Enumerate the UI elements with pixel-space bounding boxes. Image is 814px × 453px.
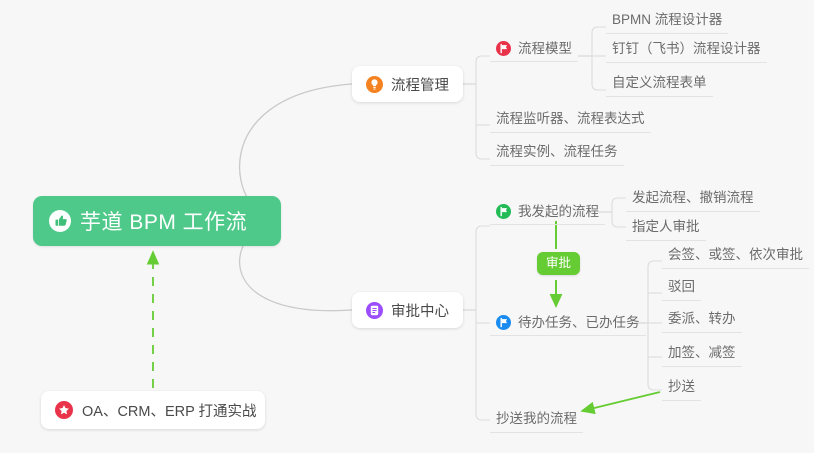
leaf-custom-process-form[interactable]: 自定义流程表单	[606, 74, 713, 97]
bracket-process-management-children	[476, 56, 490, 159]
star-icon	[55, 401, 73, 419]
leaf-process-listener-expression[interactable]: 流程监听器、流程表达式	[490, 110, 651, 133]
root-label: 芋道 BPM 工作流	[80, 206, 247, 236]
node-label-todo-done-tasks: 待办任务、已办任务	[518, 314, 640, 331]
bracket-process-model-children	[592, 27, 606, 90]
callout-integration-practice[interactable]: OA、CRM、ERP 打通实战	[41, 391, 265, 429]
leaf-process-instance-task[interactable]: 流程实例、流程任务	[490, 143, 624, 166]
node-label-my-started-processes: 我发起的流程	[518, 203, 599, 220]
leaf-delegate-transfer[interactable]: 委派、转办	[662, 310, 742, 333]
node-process-model[interactable]: 流程模型	[490, 40, 578, 62]
node-my-started-processes[interactable]: 我发起的流程	[490, 203, 605, 225]
lightbulb-icon	[366, 76, 383, 93]
branch-label-approval-center: 审批中心	[391, 300, 449, 321]
approval-annotation-pill: 审批	[537, 252, 580, 275]
bracket-my-started-children	[612, 198, 626, 227]
bracket-approval-center-children	[476, 226, 490, 420]
node-label-process-model: 流程模型	[518, 40, 572, 57]
leaf-reject[interactable]: 驳回	[662, 278, 701, 301]
leaf-assigned-approver[interactable]: 指定人审批	[626, 218, 706, 241]
bracket-todo-children	[648, 261, 662, 390]
leaf-dingtalk-feishu-designer[interactable]: 钉钉（飞书）流程设计器	[606, 40, 767, 63]
clipboard-icon	[366, 302, 383, 319]
leaf-countersign-orsign-sequential[interactable]: 会签、或签、依次审批	[662, 246, 809, 269]
callout-label: OA、CRM、ERP 打通实战	[82, 400, 257, 421]
branch-approval-center[interactable]: 审批中心	[352, 292, 463, 328]
root-node[interactable]: 芋道 BPM 工作流	[33, 196, 281, 246]
mindmap-canvas: 芋道 BPM 工作流 流程管理 流程模型 BPMN 流程设计器 钉钉（飞书）流程…	[0, 0, 814, 453]
thumbs-up-icon	[49, 210, 71, 232]
leaf-cc[interactable]: 抄送	[662, 378, 701, 401]
branch-process-management[interactable]: 流程管理	[352, 66, 463, 102]
leaf-add-remove-sign[interactable]: 加签、减签	[662, 344, 742, 367]
leaf-bpmn-designer[interactable]: BPMN 流程设计器	[606, 11, 728, 34]
node-todo-done-tasks[interactable]: 待办任务、已办任务	[490, 314, 646, 336]
flag-icon	[496, 315, 511, 330]
leaf-cc-to-me-processes[interactable]: 抄送我的流程	[490, 410, 583, 433]
flag-icon	[496, 204, 511, 219]
leaf-start-cancel-process[interactable]: 发起流程、撤销流程	[626, 189, 760, 212]
branch-label-process-management: 流程管理	[391, 74, 449, 95]
flag-icon	[496, 41, 511, 56]
arrow-cc-to-my-cc	[582, 392, 660, 411]
